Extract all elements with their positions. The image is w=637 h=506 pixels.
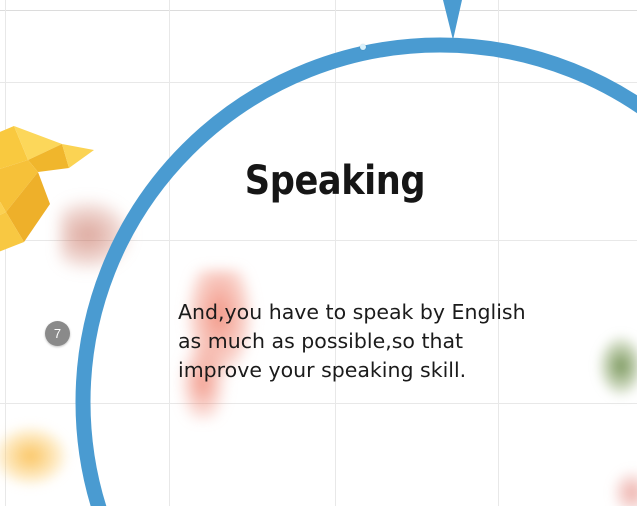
blurred-orange-bird: [0, 420, 80, 500]
body-text-line: improve your speaking skill.: [178, 356, 578, 385]
body-text-line: as much as possible,so that: [178, 327, 578, 356]
slide-body-text[interactable]: And,you have to speak by English as much…: [178, 298, 578, 385]
slide-canvas[interactable]: Speaking And,you have to speak by Englis…: [0, 0, 637, 506]
blue-circle-shape[interactable]: [75, 37, 637, 506]
shape-rotation-handle[interactable]: [360, 44, 366, 50]
slide-title[interactable]: Speaking: [190, 158, 480, 204]
slide-number-badge[interactable]: 7: [45, 321, 70, 346]
body-text-line: And,you have to speak by English: [178, 298, 578, 327]
guide-line-horizontal: [0, 10, 637, 11]
blue-triangle-pointer-icon: [443, 0, 465, 42]
